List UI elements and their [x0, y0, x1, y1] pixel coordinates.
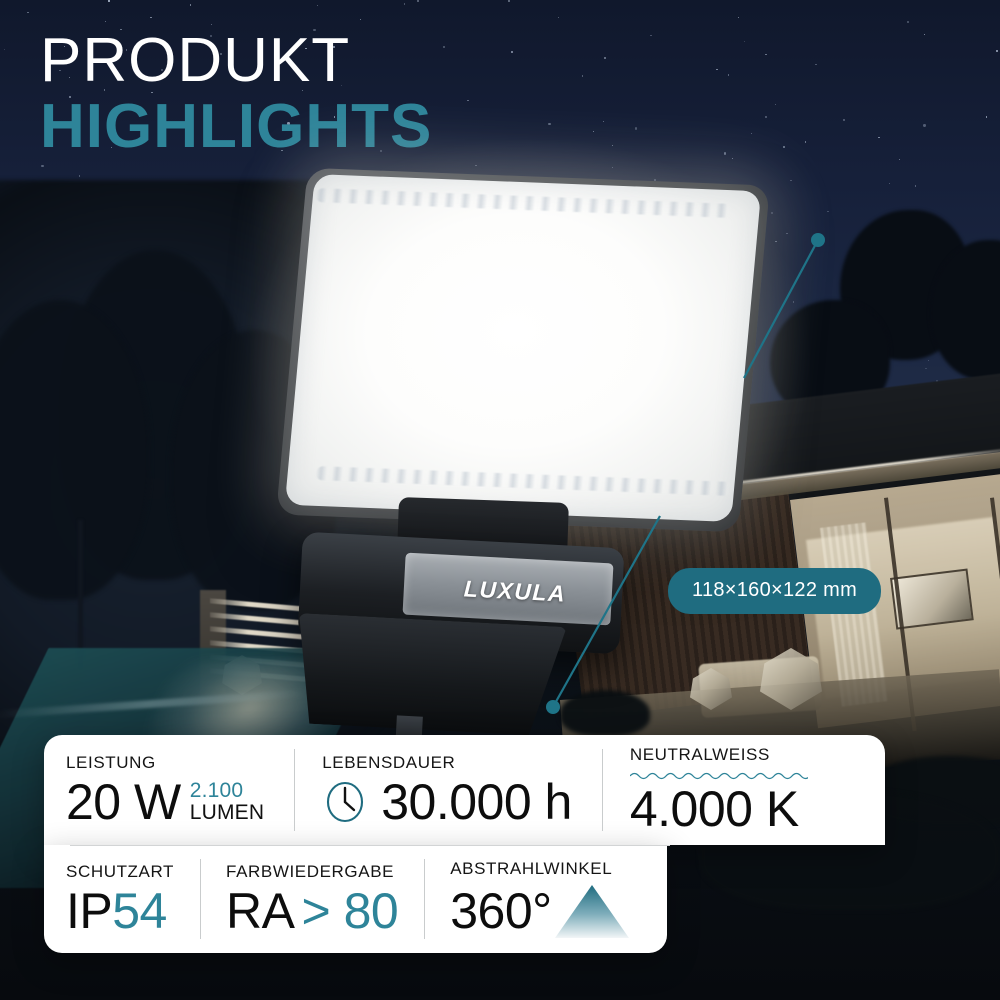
star	[805, 141, 806, 142]
spec-caption: LEISTUNG	[66, 754, 264, 771]
star	[899, 159, 900, 160]
star	[765, 54, 766, 55]
star	[108, 0, 109, 1]
pir-motion-sensor	[293, 613, 566, 737]
spec-cell-neutralweiss: NEUTRALWEISS 4.000 K	[602, 735, 834, 845]
spec-value-row: IP 54	[66, 886, 174, 936]
spec-value-row: 360°	[450, 883, 629, 939]
star	[508, 0, 509, 1]
spec-value-teal: 54	[112, 886, 167, 936]
star	[582, 75, 583, 76]
star	[765, 116, 766, 117]
spec-caption: SCHUTZART	[66, 863, 174, 880]
beam-angle-triangle-icon	[554, 883, 630, 939]
spec-subvalue-block: 2.100 LUMEN	[190, 780, 265, 823]
star	[996, 50, 997, 51]
spec-value-black: IP	[66, 886, 112, 936]
spec-cell-schutzart: SCHUTZART IP 54	[44, 845, 200, 953]
spec-value-row: 20 W 2.100 LUMEN	[66, 777, 264, 827]
lumen-value: 2.100	[190, 780, 265, 801]
star	[986, 116, 987, 117]
shrub	[560, 690, 650, 736]
star	[4, 49, 5, 50]
spec-value: 4.000 K	[630, 784, 799, 834]
spec-value-row: 30.000 h	[322, 777, 572, 827]
headline-line-2: HIGHLIGHTS	[40, 94, 432, 160]
star	[417, 0, 418, 1]
star	[843, 119, 844, 120]
product-highlight-graphic: PRODUKT HIGHLIGHTS LUXULA 118×160×122 mm…	[0, 0, 1000, 1000]
spec-value: 20 W	[66, 777, 181, 827]
star	[404, 3, 405, 4]
spec-caption: LEBENSDAUER	[322, 754, 572, 771]
spec-value-black: 360°	[450, 886, 551, 936]
star	[716, 69, 717, 70]
spec-value-row: RA > 80	[226, 886, 398, 936]
spec-caption: ABSTRAHLWINKEL	[450, 860, 629, 877]
spec-cell-lebensdauer: LEBENSDAUER 30.000 h	[294, 735, 602, 845]
star	[79, 175, 80, 176]
spec-value-teal: > 80	[302, 886, 399, 936]
star	[915, 185, 916, 186]
clock-icon	[322, 779, 368, 825]
dimension-badge: 118×160×122 mm	[668, 568, 881, 614]
spec-cell-farbwiedergabe: FARBWIEDERGABE RA > 80	[200, 845, 424, 953]
star	[827, 211, 828, 212]
headline-block: PRODUKT HIGHLIGHTS	[40, 28, 432, 159]
spec-panel: LEISTUNG 20 W 2.100 LUMEN LEBENSDAUER	[44, 735, 885, 953]
spec-value: 30.000 h	[381, 777, 572, 827]
spec-value-black: RA	[226, 886, 294, 936]
spec-cell-leistung: LEISTUNG 20 W 2.100 LUMEN	[44, 735, 294, 845]
star	[635, 127, 637, 129]
headline-line-1: PRODUKT	[40, 28, 432, 94]
star	[771, 212, 772, 213]
spec-row-divider	[70, 845, 670, 846]
star	[923, 124, 925, 126]
star	[190, 4, 191, 5]
star	[724, 152, 726, 154]
star	[907, 21, 909, 23]
spec-value-row: 4.000 K	[630, 784, 808, 834]
spec-row-primary: LEISTUNG 20 W 2.100 LUMEN LEBENSDAUER	[44, 735, 885, 845]
spec-row-secondary: SCHUTZART IP 54 FARBWIEDERGABE RA > 80 A…	[44, 845, 667, 953]
lumen-unit: LUMEN	[190, 802, 265, 823]
wave-underline-icon	[630, 771, 808, 780]
spec-caption: FARBWIEDERGABE	[226, 863, 398, 880]
spec-caption: NEUTRALWEISS	[630, 746, 808, 763]
spec-cell-abstrahlwinkel: ABSTRAHLWINKEL 360°	[424, 845, 649, 953]
star	[443, 46, 444, 47]
